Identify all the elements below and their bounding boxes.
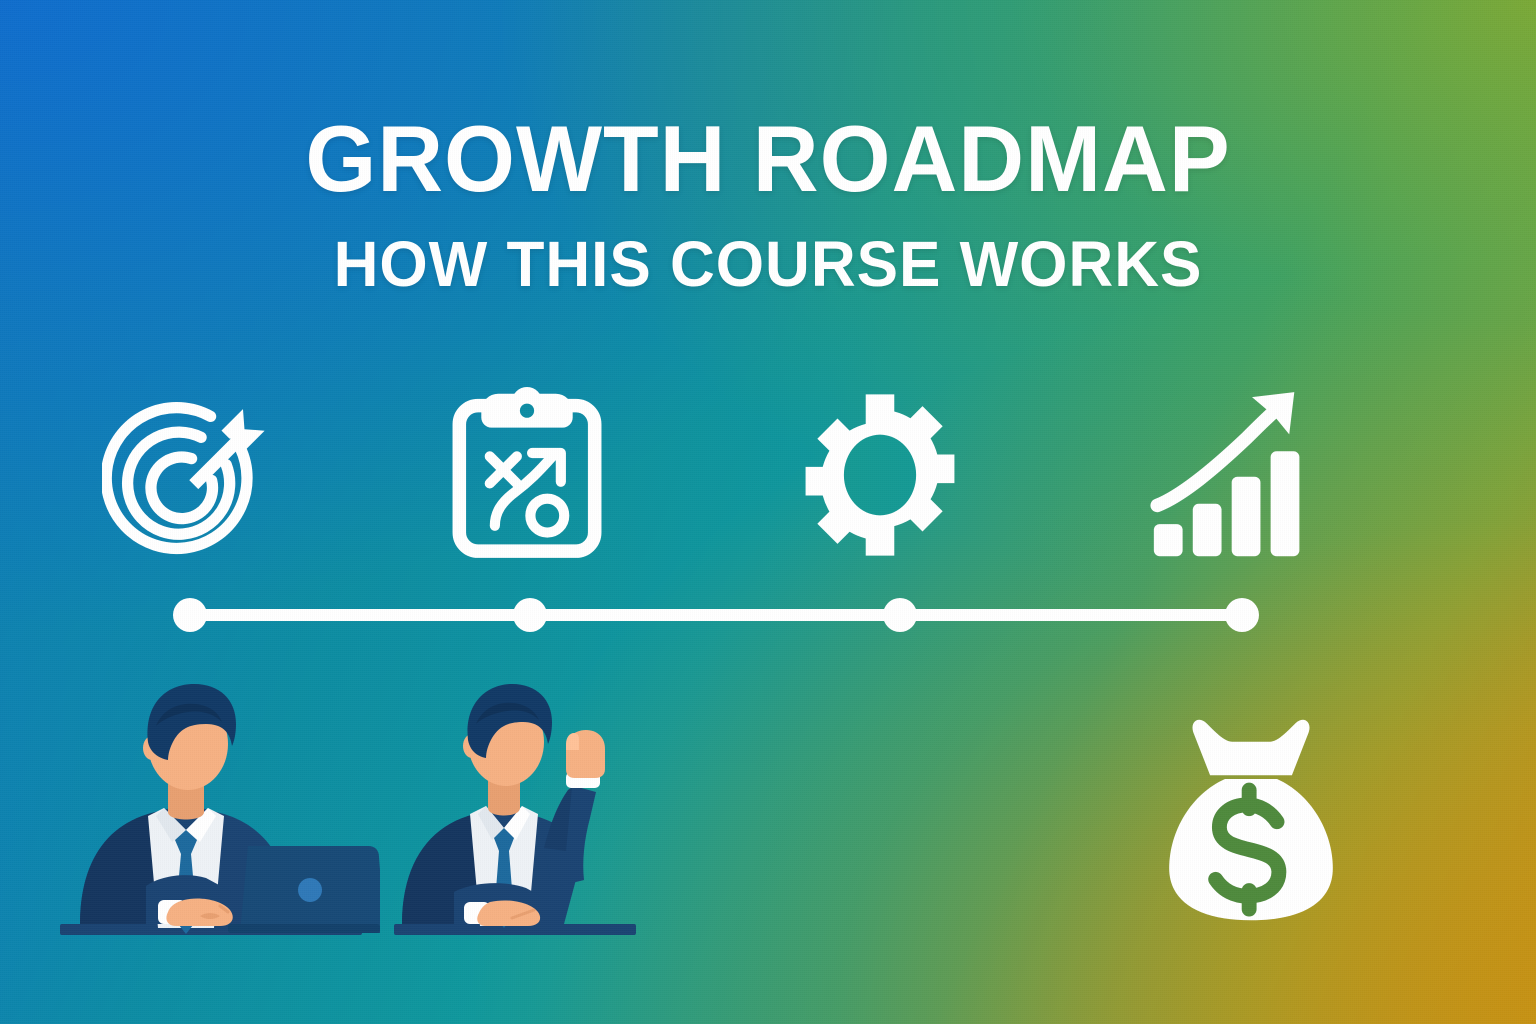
- icon-row: [0, 380, 1536, 570]
- timeline-bar: [175, 609, 1255, 621]
- timeline-node-3[interactable]: [883, 598, 917, 632]
- money-bag-icon: [1158, 712, 1344, 924]
- page-title: GROWTH ROADMAP: [23, 112, 1513, 206]
- clipboard-strategy-icon: [427, 380, 627, 570]
- timeline: [175, 598, 1255, 632]
- target-arrow-icon: [90, 380, 290, 570]
- timeline-node-4[interactable]: [1225, 598, 1259, 632]
- gear-icon: [780, 380, 980, 570]
- poster-canvas: GROWTH ROADMAP HOW THIS COURSE WORKS: [0, 0, 1536, 1024]
- businessman-celebrating: [394, 672, 644, 944]
- timeline-node-1[interactable]: [173, 598, 207, 632]
- growth-chart-icon: [1130, 380, 1330, 570]
- businessman-at-laptop: [60, 672, 380, 944]
- page-subtitle: HOW THIS COURSE WORKS: [23, 232, 1513, 296]
- title-block: GROWTH ROADMAP HOW THIS COURSE WORKS: [0, 112, 1536, 296]
- timeline-node-2[interactable]: [513, 598, 547, 632]
